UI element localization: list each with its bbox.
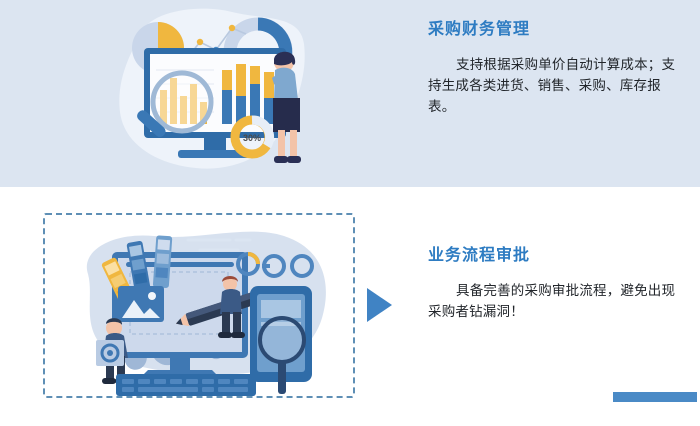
bottom-accent-bar [613, 392, 697, 402]
donut-value-label: 30% [243, 133, 261, 143]
data-analytics-illustration: 30% [112, 4, 312, 176]
design-workflow-illustration [70, 222, 370, 397]
approval-body: 具备完善的采购审批流程，避免出现采购者钻漏洞！ [428, 280, 683, 322]
image-placeholder-icon [118, 286, 164, 322]
finance-text-block: 采购财务管理 支持根据采购单价自动计算成本；支持生成各类进货、销售、采购、库存报… [428, 20, 683, 117]
next-step-arrow-icon [367, 288, 392, 322]
approval-text-block: 业务流程审批 具备完善的采购审批流程，避免出现采购者钻漏洞！ [428, 246, 683, 322]
promo-page: 30% 采购财务管理 支持根据采购单价自动计算成本；支持生成各类进货、销售、采购… [0, 0, 700, 426]
approval-heading: 业务流程审批 [428, 246, 683, 266]
magnifier-icon [260, 318, 304, 394]
finance-body: 支持根据采购单价自动计算成本；支持生成各类进货、销售、采购、库存报表。 [428, 54, 683, 117]
finance-heading: 采购财务管理 [428, 20, 683, 40]
keyboard [116, 374, 256, 396]
